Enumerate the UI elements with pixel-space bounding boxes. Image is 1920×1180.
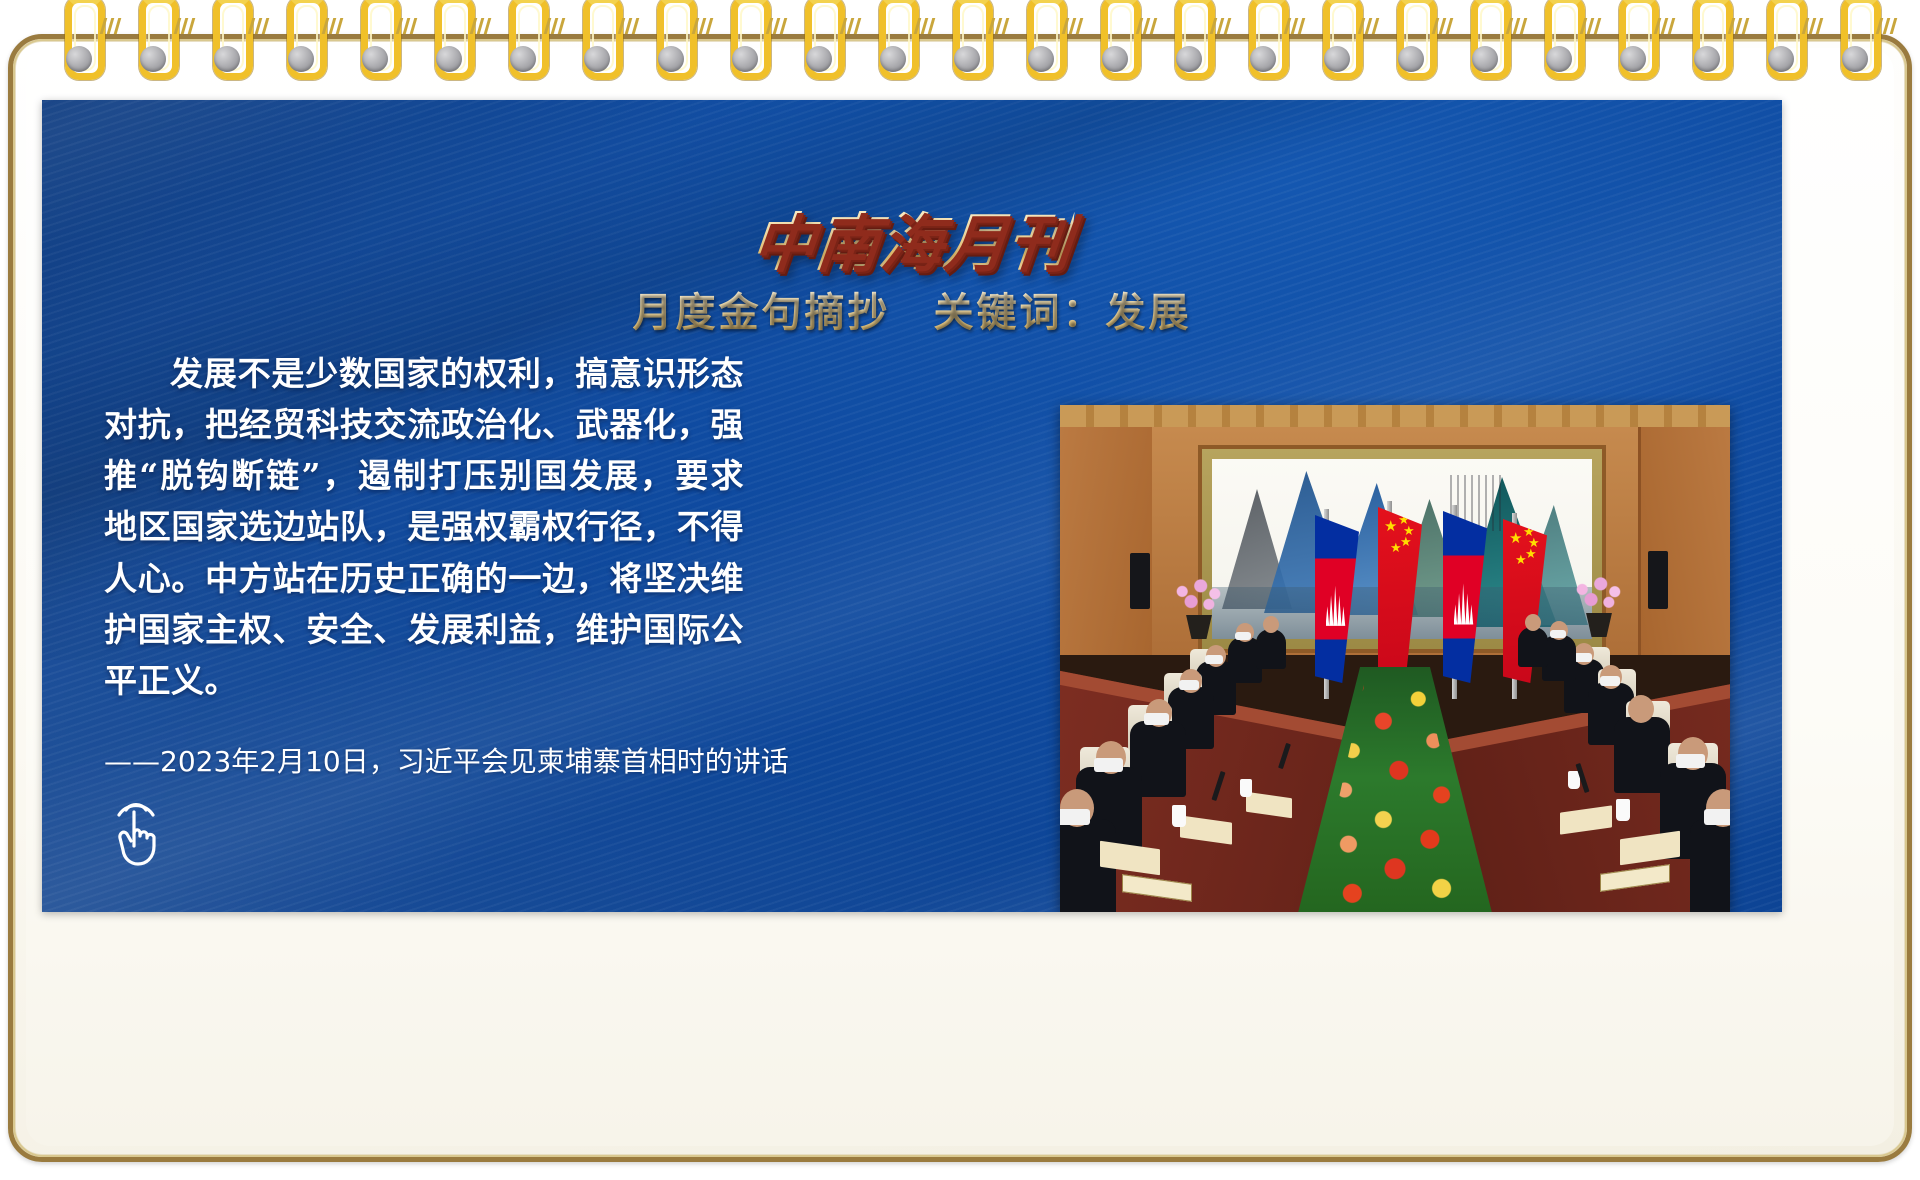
photo-speaker-right [1648,551,1668,609]
touch-hand-icon[interactable] [104,788,176,868]
photo-ceiling-band [1060,405,1730,427]
quote-attribution: ——2023年2月10日，习近平会见柬埔寨首相时的讲话 [104,740,744,780]
photo-wall-panel-left [1060,427,1155,655]
photo-flowers-right [1560,571,1634,617]
title-container: 中南海月刊 [42,192,1782,282]
photo-speaker-left [1130,553,1150,609]
quote-block: 发展不是少数国家的权利，搞意识形态对抗，把经贸科技交流政治化、武器化，强推“脱钩… [104,348,744,780]
subtitle-container: 月度金句摘抄 关键词：发展 [42,280,1782,338]
photo-delegate [1256,629,1286,669]
page-subtitle: 月度金句摘抄 关键词：发展 [633,280,1192,338]
photo-delegate [1690,819,1730,912]
notebook-page: 中南海月刊 月度金句摘抄 关键词：发展 发展不是少数国家的权利，搞意识形态对抗，… [0,0,1920,1180]
quote-body: 发展不是少数国家的权利，搞意识形态对抗，把经贸科技交流政治化、武器化，强推“脱钩… [104,348,744,706]
page-title: 中南海月刊 [747,192,1076,282]
photo-wall-panel-right [1638,427,1730,655]
content-panel: 中南海月刊 月度金句摘抄 关键词：发展 发展不是少数国家的权利，搞意识形态对抗，… [42,100,1782,912]
photo-flowers-left [1160,573,1234,619]
photo-delegate [1518,627,1548,667]
meeting-photo: ★ ★ ★ ★ ★ ★ ★ ★ ★ ★ [1060,405,1730,912]
